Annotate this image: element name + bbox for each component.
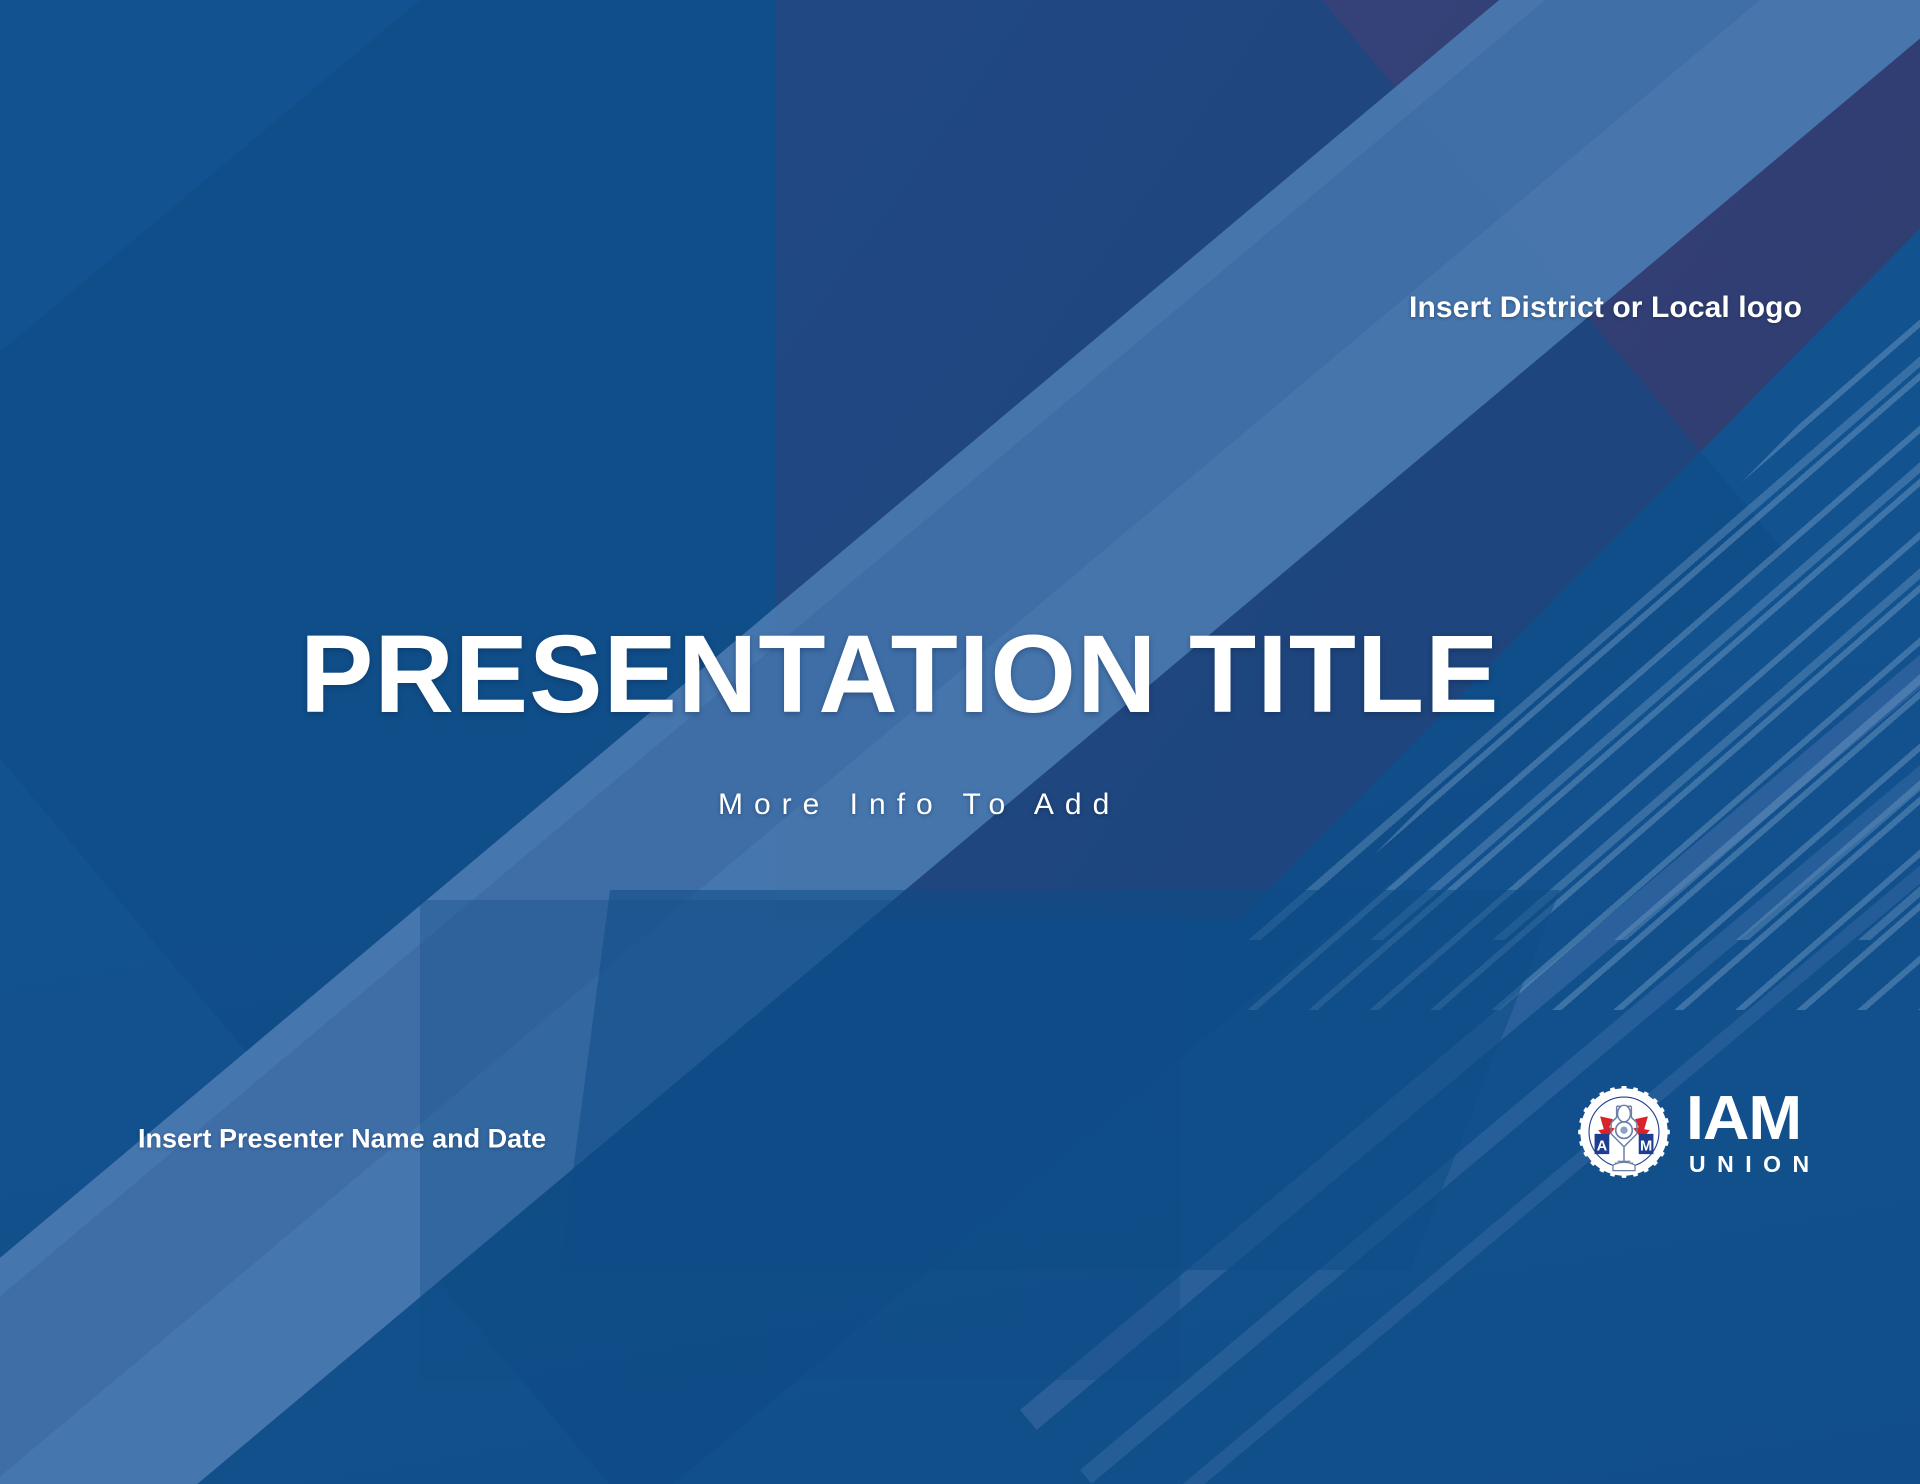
- slide-content: Insert District or Local logo PRESENTATI…: [0, 0, 1920, 1484]
- iam-wordmark-descriptor: UNION: [1686, 1153, 1821, 1176]
- presenter-name-and-date[interactable]: Insert Presenter Name and Date: [138, 1124, 546, 1155]
- page-title[interactable]: PRESENTATION TITLE: [300, 620, 1499, 730]
- iam-gear-emblem-icon: A M: [1578, 1086, 1670, 1178]
- iam-union-logo: A M IAM: [1578, 1086, 1821, 1178]
- title-slide: Insert District or Local logo PRESENTATI…: [0, 0, 1920, 1484]
- iam-wordmark: IAM UNION: [1686, 1088, 1821, 1175]
- iam-wordmark-name: IAM: [1686, 1090, 1826, 1147]
- emblem-letter-a: A: [1597, 1138, 1608, 1154]
- emblem-letter-m: M: [1640, 1138, 1652, 1154]
- page-subtitle[interactable]: More Info To Add: [718, 788, 1120, 822]
- district-logo-placeholder[interactable]: Insert District or Local logo: [1409, 291, 1802, 325]
